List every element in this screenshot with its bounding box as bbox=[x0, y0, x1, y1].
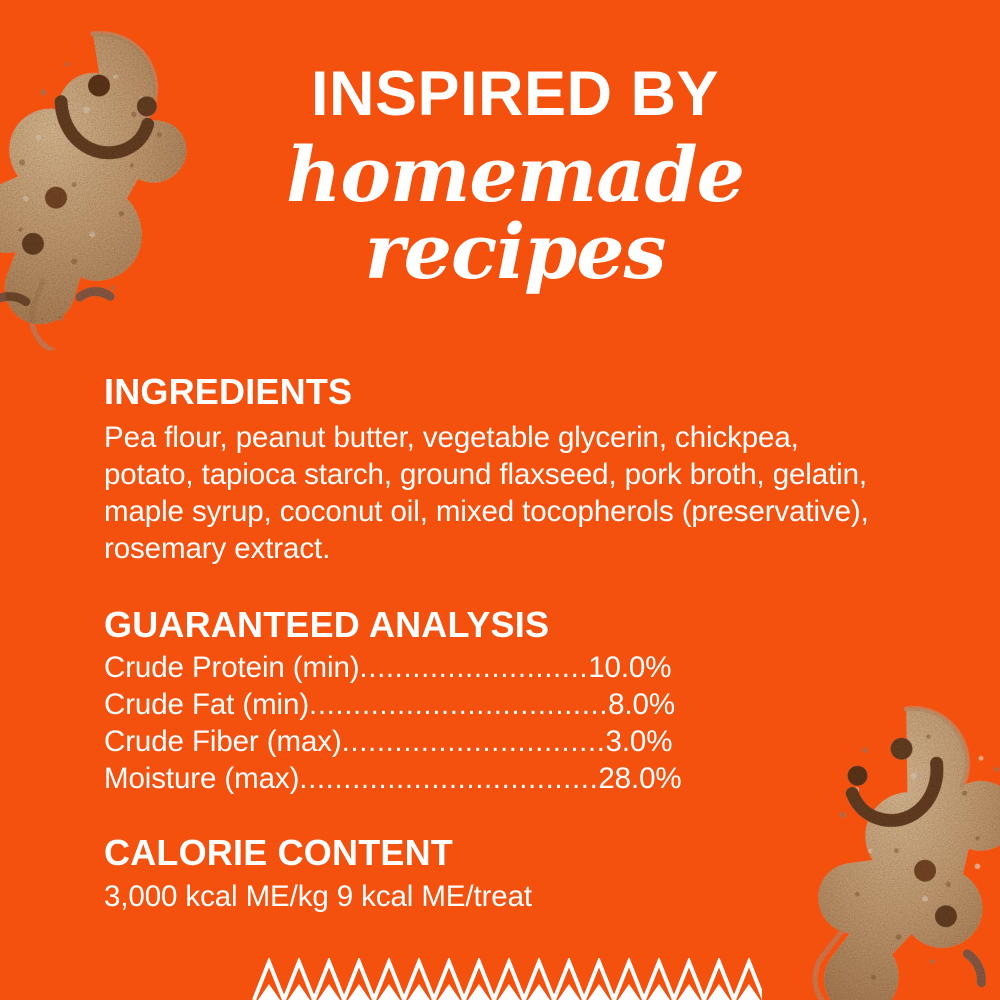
calorie-content-text: 3,000 kcal ME/kg 9 kcal ME/treat bbox=[104, 878, 884, 915]
analysis-row-leader-dots: .............................. bbox=[342, 723, 606, 760]
analysis-row: Crude Fat (min) ........................… bbox=[104, 686, 894, 723]
headline-block: INSPIRED BY homemade recipes bbox=[280, 62, 750, 294]
guaranteed-analysis-heading: GUARANTEED ANALYSIS bbox=[104, 605, 894, 645]
analysis-row-value: 8.0% bbox=[608, 686, 675, 723]
headline-line-inspired-by: INSPIRED BY bbox=[280, 62, 750, 126]
analysis-row: Crude Protein (min) ....................… bbox=[104, 649, 894, 686]
headline-line-homemade: homemade bbox=[280, 132, 750, 218]
analysis-row-label: Moisture (max) bbox=[104, 760, 299, 797]
analysis-row: Moisture (max) .........................… bbox=[104, 760, 894, 797]
analysis-row-leader-dots: .................................. bbox=[309, 686, 608, 723]
analysis-row-leader-dots: .......................... bbox=[360, 649, 589, 686]
guaranteed-analysis-rows: Crude Protein (min) ....................… bbox=[104, 649, 894, 797]
analysis-row-label: Crude Protein (min) bbox=[104, 649, 360, 686]
nutrition-panel: INGREDIENTS Pea flour, peanut butter, ve… bbox=[104, 372, 894, 915]
headline-line-recipes: recipes bbox=[280, 210, 750, 294]
ingredients-heading: INGREDIENTS bbox=[104, 372, 894, 412]
ingredients-text: Pea flour, peanut butter, vegetable glyc… bbox=[104, 419, 884, 567]
section-guaranteed-analysis: GUARANTEED ANALYSIS Crude Protein (min) … bbox=[104, 605, 894, 797]
section-ingredients: INGREDIENTS Pea flour, peanut butter, ve… bbox=[104, 372, 894, 567]
chevron-pattern-strip bbox=[252, 958, 762, 1000]
analysis-row-label: Crude Fat (min) bbox=[104, 686, 309, 723]
section-calorie-content: CALORIE CONTENT 3,000 kcal ME/kg 9 kcal … bbox=[104, 833, 894, 915]
analysis-row: Crude Fiber (max) ......................… bbox=[104, 723, 894, 760]
analysis-row-label: Crude Fiber (max) bbox=[104, 723, 342, 760]
analysis-row-value: 28.0% bbox=[598, 760, 681, 797]
analysis-row-value: 10.0% bbox=[588, 649, 671, 686]
analysis-row-value: 3.0% bbox=[606, 723, 673, 760]
analysis-row-leader-dots: .................................. bbox=[299, 760, 598, 797]
gingerbread-cookie-top-left bbox=[0, 4, 239, 359]
product-packaging-panel: INSPIRED BY homemade recipes INGREDIENTS… bbox=[0, 0, 1000, 1000]
calorie-content-heading: CALORIE CONTENT bbox=[104, 833, 894, 873]
